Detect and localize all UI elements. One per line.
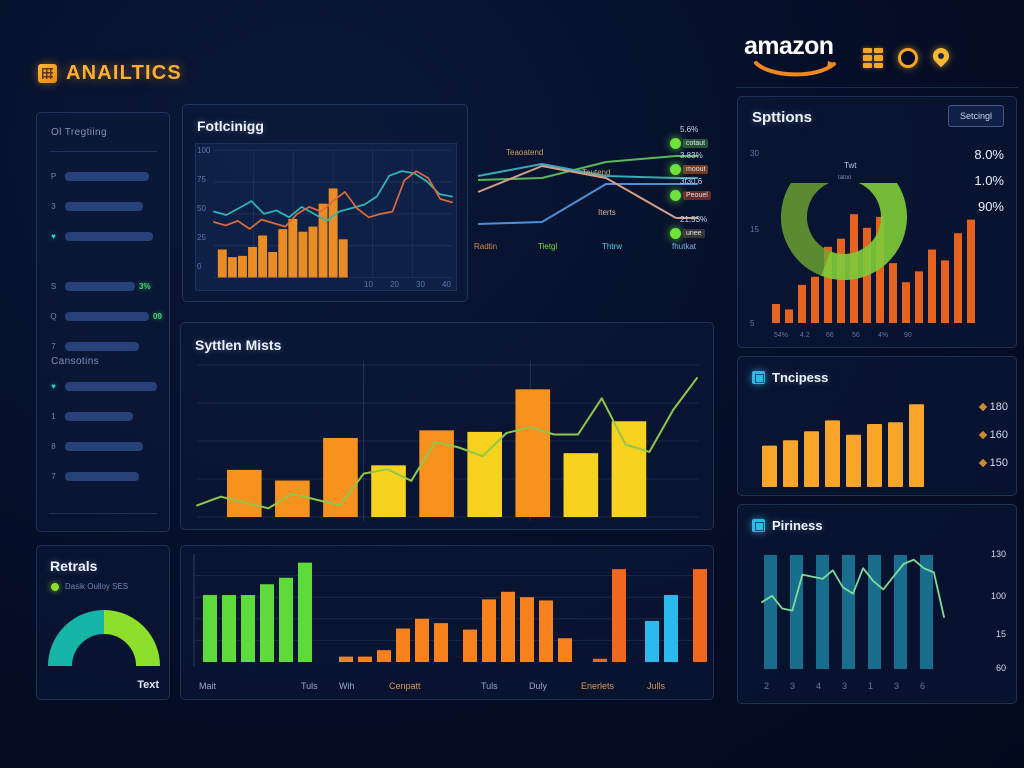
forecast-xtick: 20 [390, 280, 399, 289]
diamond-icon [978, 403, 986, 411]
settings-button[interactable]: Setcingl [948, 105, 1004, 127]
amazon-logo: amazon [744, 34, 833, 59]
sidebar-item[interactable]: 1 [49, 411, 161, 422]
gear-icon[interactable] [898, 48, 918, 68]
options-title: Spttions [752, 109, 812, 126]
bar [371, 465, 406, 517]
amazon-smile-icon [754, 60, 838, 77]
piriness-xtick: 4 [816, 681, 821, 691]
piriness-ytick-1: 130 [991, 549, 1006, 559]
progress-value-1: 180 [980, 401, 1008, 413]
bar [564, 453, 599, 517]
sidebar-item-bar [65, 172, 149, 181]
bar [419, 430, 454, 517]
slope-endpoint-dot[interactable] [670, 138, 681, 149]
bar [319, 204, 328, 278]
options-xtick: 54% [774, 332, 788, 339]
bar [396, 629, 410, 662]
bar [783, 440, 798, 487]
diamond-icon [978, 459, 986, 467]
slope-end-pct: 3f30.6 [680, 177, 702, 186]
retrals-legend-label: Dasik Oulloy SES [65, 582, 128, 591]
sidebar-item[interactable]: Q [49, 311, 161, 322]
heart-icon: ♥ [49, 381, 58, 392]
sidebar-item-glyph: 7 [49, 471, 58, 482]
sidebar-item-bar [65, 472, 139, 481]
options-xtick: 4.2 [800, 332, 810, 339]
piriness-xtick: 3 [790, 681, 795, 691]
bar [558, 638, 572, 662]
sidebar-section-header-1: Ol Tregtiing [51, 127, 107, 138]
bottom-bars-card: MaitTulsWihCenpattTulsDulyEnerletsJulls [180, 545, 714, 700]
bar [339, 239, 348, 277]
bar [279, 578, 293, 662]
forecasting-title: Fotlcinigg [197, 118, 264, 134]
sidebar-item-pct: 3% [139, 282, 151, 291]
slope-end-tag: Peouel [683, 191, 711, 200]
sidebar-item-bar [65, 232, 153, 241]
bar [889, 263, 897, 323]
sidebar-item-glyph: 3 [49, 201, 58, 212]
bottom-bars-category-label: Tuls [481, 681, 498, 691]
slope-chart: RadtinTietglThtrwfhutkatTeaoatendTeutend… [470, 120, 720, 280]
slope-category-label: fhutkat [672, 242, 696, 251]
system-metrics-card: Syttlen Mists [180, 322, 714, 530]
bar [645, 621, 659, 662]
bar [612, 569, 626, 662]
bar [515, 389, 550, 517]
piriness-xtick: 6 [920, 681, 925, 691]
bar [790, 555, 803, 669]
slope-line [478, 166, 676, 218]
forecast-ytick: 100 [197, 146, 210, 155]
slope-annotation: Iterts [598, 208, 616, 217]
sidebar-item[interactable]: ♥ [49, 381, 161, 392]
bar [238, 256, 247, 278]
app-brand: ANAILTICS [38, 62, 182, 85]
slope-line [478, 164, 676, 178]
sidebar-item[interactable]: ♥ [49, 231, 161, 242]
bar [377, 650, 391, 662]
bar [275, 481, 310, 517]
options-xtick: 56 [852, 332, 860, 339]
slope-endpoint-dot[interactable] [670, 190, 681, 201]
forecast-xtick: 30 [416, 280, 425, 289]
bar [868, 555, 881, 669]
page-title: ANAILTICS [66, 62, 182, 85]
forecast-ytick: 0 [197, 262, 201, 271]
slope-line [478, 184, 676, 224]
slope-end-tag: cotaut [683, 139, 708, 148]
forecast-ytick: 25 [197, 233, 206, 242]
grid-app-icon [38, 64, 57, 83]
sidebar-item[interactable]: 7 [49, 341, 161, 352]
sidebar-item-bar [65, 282, 135, 291]
grid-icon[interactable] [863, 48, 883, 68]
retrals-value: Text [137, 679, 159, 691]
piriness-ytick-2: 100 [991, 591, 1006, 601]
bar [798, 285, 806, 323]
bar [222, 595, 236, 662]
bar [888, 422, 903, 487]
bar [941, 260, 949, 323]
bar [928, 250, 936, 323]
bottom-bars-category-label: Duly [529, 681, 547, 691]
bar [693, 569, 707, 662]
sidebar-item[interactable]: 7 [49, 471, 161, 482]
slope-annotation: Teutend [582, 168, 610, 177]
bottom-bars-category-label: Mait [199, 681, 216, 691]
bar [539, 600, 553, 662]
sidebar-item-bar [65, 442, 143, 451]
bar [339, 657, 353, 662]
slope-endpoint-dot[interactable] [670, 228, 681, 239]
bar [358, 657, 372, 662]
location-pin-icon[interactable] [933, 48, 953, 68]
bar [227, 470, 262, 517]
amazon-header: amazon [730, 26, 1024, 88]
slope-annotation: Teaoatend [506, 148, 543, 157]
diamond-icon [978, 431, 986, 439]
bar [520, 597, 534, 662]
bar [248, 247, 257, 278]
bar [278, 229, 287, 277]
slope-end-pct: 3.83% [680, 151, 703, 160]
bar [842, 555, 855, 669]
donut-sublabel: tatoo [838, 175, 851, 181]
sidebar-item-glyph: P [49, 171, 58, 182]
sidebar-item-glyph: 7 [49, 341, 58, 352]
bar [762, 446, 777, 487]
bar [241, 595, 255, 662]
sidebar-item-pct: 09 [153, 312, 162, 321]
retrals-legend: Dasik Oulloy SES [51, 582, 128, 591]
options-chart-svg: 54%4.266564%90 [746, 183, 1010, 341]
amazon-wordmark: amazon [744, 34, 833, 59]
options-xtick: 66 [826, 332, 834, 339]
bar [837, 239, 845, 323]
progress-value-2: 160 [980, 429, 1008, 441]
sidebar: Ol Tregtiing P3♥S3%Q097 Cansotins ♥187 [36, 112, 170, 532]
dashboard-root: ANAILTICS Ol Tregtiing P3♥S3%Q097 Cansot… [0, 0, 1024, 768]
sidebar-item[interactable]: 3 [49, 201, 161, 212]
retrals-gauge-svg [47, 598, 161, 678]
sidebar-item-glyph: Q [49, 311, 58, 322]
bar [415, 619, 429, 662]
gauge-slice-right [104, 622, 148, 666]
gauge-slice-left [60, 622, 104, 666]
forecasting-plot: 100755025010203040 [195, 143, 457, 291]
forecast-ytick: 75 [197, 175, 206, 184]
forecasting-card: Fotlcinigg 100755025010203040 [182, 104, 468, 302]
slope-end-pct: 21.53% [680, 215, 707, 224]
bar [816, 555, 829, 669]
options-percent-1: 8.0% [974, 147, 1004, 162]
bar [501, 592, 515, 662]
sidebar-item[interactable]: 8 [49, 441, 161, 452]
chart-square-icon [752, 371, 765, 384]
sidebar-item-glyph: 1 [49, 411, 58, 422]
bar [902, 282, 910, 323]
slope-end-pct: 5.6% [680, 125, 698, 134]
forecasting-svg [196, 144, 456, 290]
progress-chart-svg [762, 391, 938, 487]
retrals-card: Retrals Dasik Oulloy SES Text [36, 545, 170, 700]
piriness-chart-svg [760, 541, 956, 673]
chart-square-icon [752, 519, 765, 532]
sidebar-item-bar [65, 202, 143, 211]
piriness-title: Piriness [772, 518, 823, 533]
options-card: Spttions Setcingl 8.0% 1.0% 90% 30 15 5 … [737, 96, 1017, 348]
bar [258, 236, 267, 278]
slope-category-label: Radtin [474, 242, 497, 251]
bar [764, 555, 777, 669]
header-divider [736, 87, 1018, 88]
legend-dot-icon [51, 583, 59, 591]
bar [288, 219, 297, 278]
sidebar-item-bar [65, 412, 133, 421]
bar [593, 659, 607, 662]
progress-value-3: 150 [980, 457, 1008, 469]
bar [309, 227, 318, 278]
bar [967, 220, 975, 323]
sidebar-divider-1 [49, 151, 157, 152]
bar [915, 271, 923, 323]
bar [846, 435, 861, 487]
sidebar-item-bar [65, 312, 149, 321]
donut-label: Twt [844, 161, 856, 170]
bar [825, 420, 840, 487]
donut-segment-major [826, 183, 894, 267]
sidebar-section-header-2: Cansotins [51, 356, 99, 367]
bar [298, 232, 307, 278]
bottom-bars-category-label: Enerlets [581, 681, 614, 691]
bar [772, 304, 780, 323]
sidebar-item-bar [65, 342, 139, 351]
bar [463, 630, 477, 662]
piriness-card: Piriness 130 100 15 60 2343136 [737, 504, 1017, 704]
sidebar-item[interactable]: P [49, 171, 161, 182]
piriness-xtick: 3 [894, 681, 899, 691]
piriness-xtick: 2 [764, 681, 769, 691]
slope-end-tag: moout [683, 165, 708, 174]
forecast-xtick: 10 [364, 280, 373, 289]
sidebar-item-bar [65, 382, 157, 391]
bottom-bars-category-label: Wih [339, 681, 355, 691]
slope-endpoint-dot[interactable] [670, 164, 681, 175]
options-ytick-1: 30 [750, 149, 759, 158]
bottom-bars-svg [189, 554, 707, 666]
bottom-bars-category-label: Julls [647, 681, 665, 691]
bottom-bars-category-label: Cenpatt [389, 681, 421, 691]
forecast-xtick: 40 [442, 280, 451, 289]
bar [804, 431, 819, 487]
forecast-ytick: 50 [197, 204, 206, 213]
bar [467, 432, 502, 517]
bar [268, 252, 277, 277]
bar [218, 249, 227, 277]
slope-category-label: Thtrw [602, 242, 622, 251]
bar [228, 257, 237, 277]
bar [811, 277, 819, 323]
bar [434, 623, 448, 662]
piriness-ytick-4: 60 [996, 663, 1006, 673]
sidebar-item-glyph: 8 [49, 441, 58, 452]
bar [482, 599, 496, 662]
heart-icon: ♥ [49, 231, 58, 242]
bar [612, 421, 647, 517]
bar [664, 595, 678, 662]
progress-card: Tncipess 180 160 150 [737, 356, 1017, 496]
piriness-ytick-3: 15 [996, 629, 1006, 639]
slope-end-tag: unee [683, 229, 705, 238]
bar [298, 563, 312, 662]
bar [785, 309, 793, 323]
bar [867, 424, 882, 487]
piriness-xtick: 3 [842, 681, 847, 691]
bottom-bars-category-label: Tuls [301, 681, 318, 691]
system-metrics-svg [193, 361, 703, 521]
sidebar-item-glyph: S [49, 281, 58, 292]
retrals-title: Retrals [50, 558, 97, 574]
bar [260, 584, 274, 662]
system-metrics-title: Syttlen Mists [195, 337, 281, 353]
piriness-xtick: 1 [868, 681, 873, 691]
sidebar-divider-2 [49, 513, 157, 514]
options-xtick: 4% [878, 332, 888, 339]
options-xtick: 90 [904, 332, 912, 339]
bar [203, 595, 217, 662]
slope-category-label: Tietgl [538, 242, 557, 251]
progress-title: Tncipess [772, 370, 828, 385]
bar [954, 233, 962, 323]
donut-segment-minor [794, 183, 841, 263]
bar [909, 404, 924, 487]
